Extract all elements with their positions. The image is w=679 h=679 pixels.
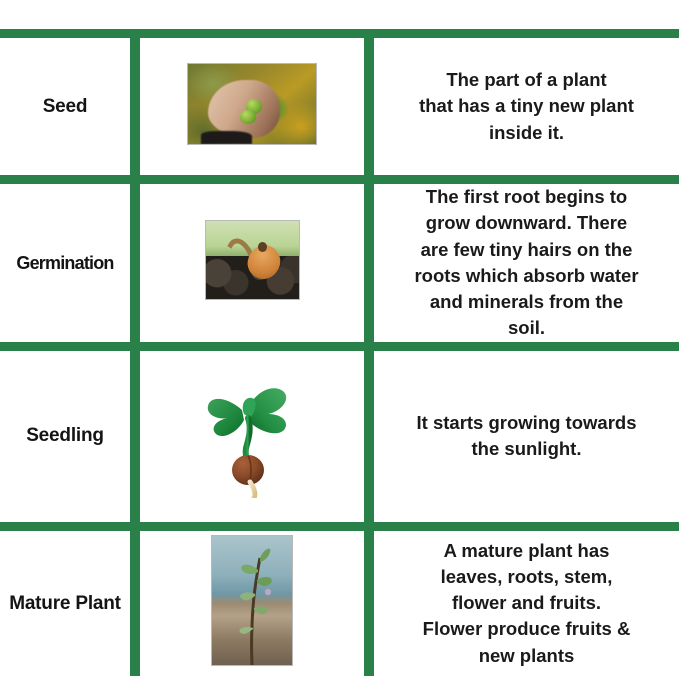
stage-cell-seed: Seed [0,34,135,180]
description-text: The part of a plant that has a tiny new … [374,67,679,146]
stage-cell-germination: Germination [0,180,135,347]
germination-image-wrap [205,220,300,300]
description-cell-seed: The part of a plant that has a tiny new … [369,34,679,180]
image-cell-germination [135,180,369,347]
stage-label: Seedling [0,422,130,450]
hand-holding-seeds-photo [187,63,317,145]
seedling-illustration [196,370,308,498]
mature-plant-photo [211,535,293,666]
plant-leaf-top [260,549,270,562]
root [250,482,255,498]
table-row: Seed The part of a plant that has a tiny… [0,34,679,180]
stage-label: Seed [0,93,130,121]
stage-label: Germination [0,250,130,276]
seed-tip-shape [258,242,267,252]
description-text: The first root begins to grow downward. … [374,184,679,342]
germinating-seed-photo [205,220,300,300]
lifecycle-sheet: Seed The part of a plant that has a tiny… [0,0,679,679]
plant-leaf-left-1 [241,565,258,574]
stage-cell-mature-plant: Mature Plant [0,526,135,676]
seed-image-wrap [187,63,317,145]
description-cell-seedling: It starts growing towards the sunlight. [369,346,679,526]
table-row: Germination The first root begins to gro… [0,180,679,347]
mature-plant-image-wrap [211,535,293,666]
description-cell-germination: The first root begins to grow downward. … [369,180,679,347]
plant-life-cycle-table: Seed The part of a plant that has a tiny… [0,29,679,676]
seedling-image-wrap [196,370,308,498]
mature-plant-figure [212,536,292,665]
cotyledon-leaf-left [208,399,244,436]
seed-shape [240,110,255,124]
table-row: Seedling [0,346,679,526]
description-text: A mature plant has leaves, roots, stem, … [374,538,679,669]
table-row: Mature Plant [0,526,679,676]
plant-leaf-right-2 [254,607,268,615]
description-cell-mature-plant: A mature plant has leaves, roots, stem, … [369,526,679,676]
stage-cell-seedling: Seedling [0,346,135,526]
plant-leaf-right-1 [257,577,272,586]
description-text: It starts growing towards the sunlight. [374,410,679,463]
plant-flower [265,589,271,595]
sleeve-shape [201,131,252,144]
image-cell-seed [135,34,369,180]
stage-label: Mature Plant [0,590,130,618]
hand-shape [208,80,280,138]
image-cell-mature-plant [135,526,369,676]
image-cell-seedling [135,346,369,526]
